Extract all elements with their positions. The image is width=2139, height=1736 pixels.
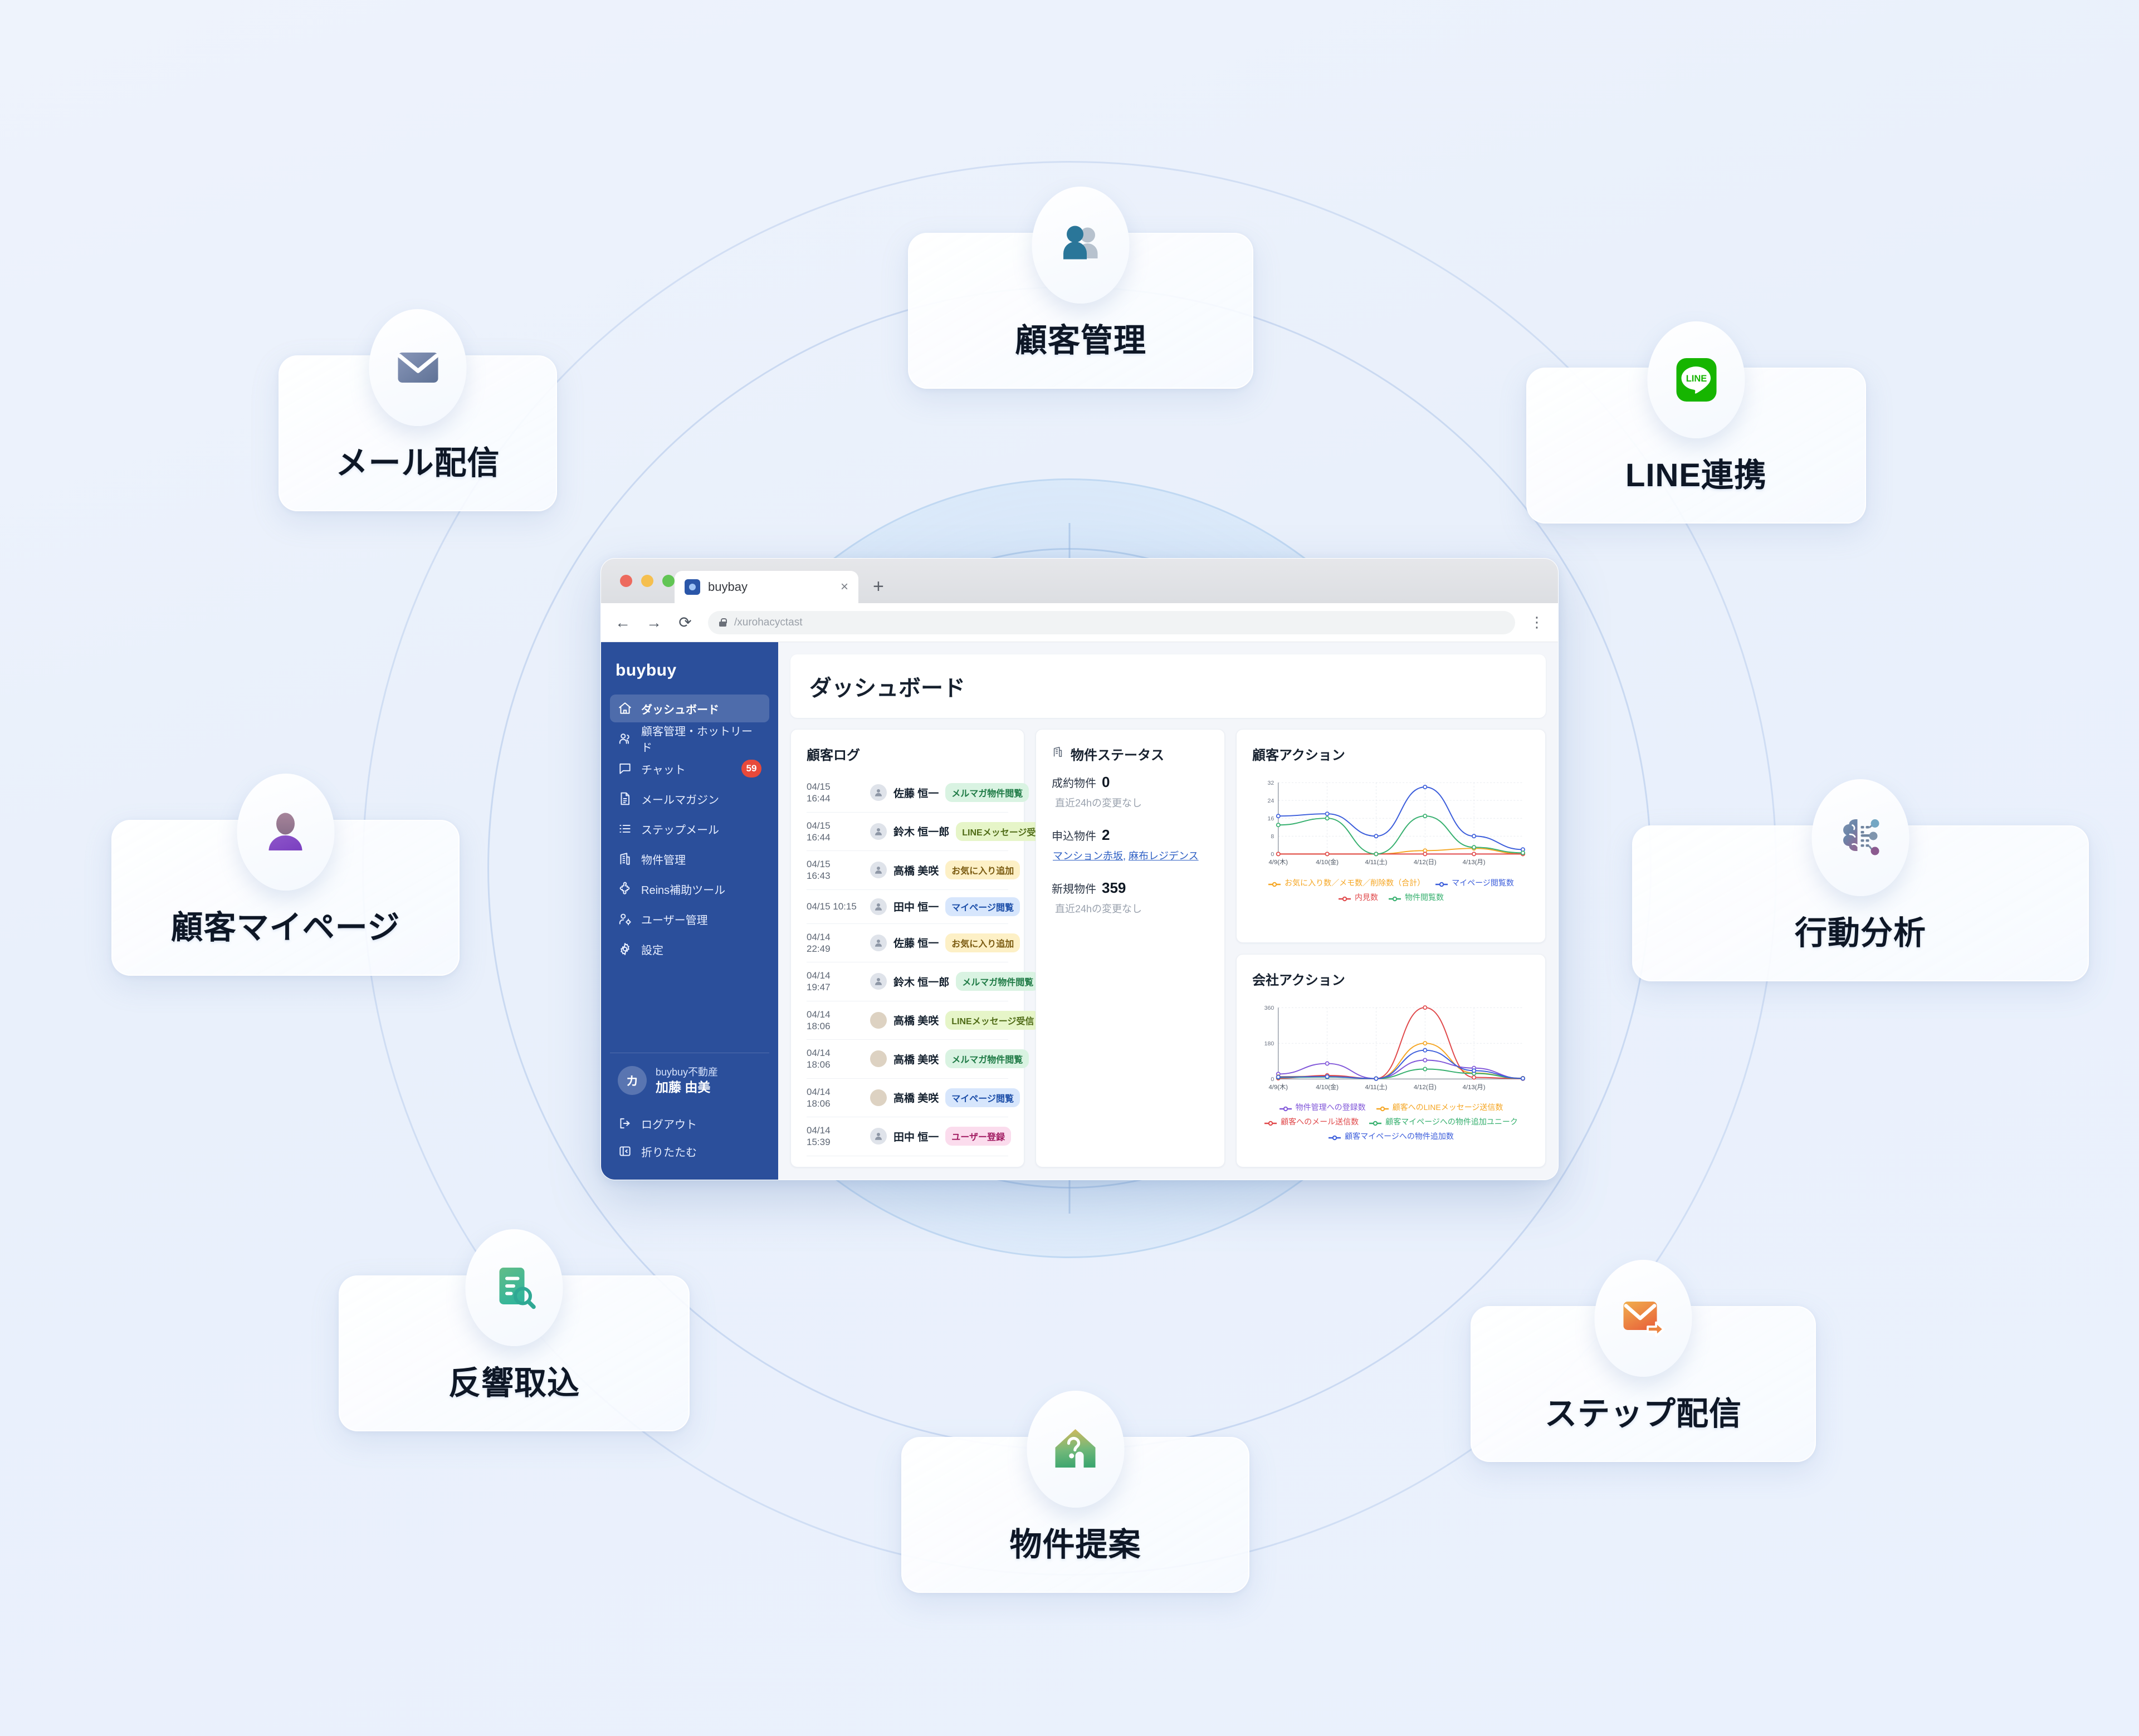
log-row[interactable]: 04/1516:44鈴木 恒一郎LINEメッセージ受信: [807, 813, 1008, 852]
log-row[interactable]: 04/15 10:15田中 恒一マイページ閲覧: [807, 890, 1008, 924]
property-status-item: 成約物件0直近24hの変更なし: [1052, 774, 1209, 810]
legend-label: 顧客へのメール送信数: [1281, 1116, 1359, 1127]
close-window-button[interactable]: [620, 575, 632, 587]
legend-marker-icon: [1264, 1119, 1277, 1124]
log-event-chip: マイページ閲覧: [945, 1088, 1020, 1107]
browser-window: buybay × + ← → ⟳ /xurohacyctast ⋮ buybuy…: [600, 558, 1559, 1180]
log-event-chip: メルマガ物件閲覧: [945, 1049, 1029, 1068]
log-timestamp: 04/1415:39: [807, 1124, 863, 1148]
feature-card-label: 反響取込: [448, 1357, 580, 1404]
maximize-window-button[interactable]: [662, 575, 675, 587]
feature-card-label: LINE連携: [1625, 449, 1767, 496]
sidebar-item-label: 設定: [641, 941, 663, 957]
property-status-line: 申込物件2: [1052, 827, 1209, 844]
sidebar-item-newsletter[interactable]: メールマガジン: [610, 785, 769, 813]
log-row[interactable]: 04/1415:39田中 恒一ユーザー登録: [807, 1117, 1008, 1156]
legend-marker-icon: [1268, 880, 1281, 886]
legend-entry[interactable]: 顧客マイページへの物件追加数: [1328, 1131, 1454, 1142]
feature-card-label: メール配信: [335, 437, 500, 483]
charts-column: 顧客アクション 081624324/9(木)4/10(金)4/11(土)4/12…: [1236, 729, 1546, 1167]
avatar: [870, 784, 887, 801]
property-status-sub: 直近24hの変更なし: [1052, 795, 1209, 810]
sidebar-item-label: Reins補助ツール: [641, 881, 725, 897]
log-event-chip: お気に入り追加: [945, 933, 1020, 952]
chat-unread-badge: 59: [741, 760, 761, 777]
document-search-icon: [466, 1229, 563, 1346]
sidebar-nav: ダッシュボード 顧客管理・ホットリード チャット 59 メールマガジン: [601, 695, 778, 963]
svg-text:360: 360: [1264, 1004, 1274, 1011]
legend-label: 顧客マイページへの物件追加ユニーク: [1385, 1116, 1518, 1127]
company-action-chart: 01803604/9(木)4/10(金)4/11(土)4/12(日)4/13(月…: [1252, 1001, 1530, 1098]
log-event-chip: お気に入り追加: [945, 860, 1020, 879]
close-icon[interactable]: ×: [841, 579, 848, 595]
feature-card-inquiry[interactable]: 反響取込: [339, 1275, 690, 1431]
log-timestamp: 04/1418:06: [807, 1086, 863, 1110]
log-timestamp: 04/1516:44: [807, 781, 863, 805]
avatar: カ: [618, 1066, 647, 1095]
document-icon: [618, 791, 632, 806]
property-status-links: マンション赤坂, 麻布レジデンス: [1052, 848, 1209, 863]
sidebar-item-dashboard[interactable]: ダッシュボード: [610, 695, 769, 722]
line-icon: LINE: [1648, 321, 1745, 438]
log-customer-name: 田中 恒一: [893, 899, 939, 914]
house-question-icon: [1027, 1391, 1124, 1508]
svg-text:0: 0: [1271, 851, 1274, 858]
address-bar-url: /xurohacyctast: [734, 617, 803, 629]
legend-marker-icon: [1369, 1119, 1382, 1124]
sidebar-item-label: メールマガジン: [641, 791, 719, 807]
home-icon: [618, 701, 632, 716]
avatar: [870, 1089, 887, 1106]
property-status-title-text: 物件ステータス: [1071, 744, 1164, 764]
log-customer-name: 佐藤 恒一: [893, 935, 939, 950]
sidebar-item-label: ダッシュボード: [641, 701, 719, 717]
feature-card-step[interactable]: ステップ配信: [1471, 1306, 1816, 1462]
address-bar[interactable]: /xurohacyctast: [708, 611, 1515, 634]
envelope-icon: [369, 309, 467, 426]
legend-label: 顧客マイページへの物件追加数: [1345, 1131, 1454, 1142]
svg-text:180: 180: [1264, 1040, 1274, 1047]
log-customer-name: 鈴木 恒一郎: [893, 974, 949, 989]
log-row[interactable]: 04/1418:06高橋 美咲メルマガ物件閲覧: [807, 1040, 1008, 1079]
browser-toolbar: ← → ⟳ /xurohacyctast ⋮: [601, 603, 1558, 642]
svg-text:4/13(月): 4/13(月): [1463, 859, 1486, 865]
sidebar-profile[interactable]: カ buybuy不動産 加藤 由美: [610, 1065, 769, 1109]
list-icon: [618, 821, 632, 836]
legend-marker-icon: [1376, 1104, 1389, 1110]
sidebar-item-collapse[interactable]: 折りたたむ: [610, 1137, 769, 1165]
log-event-chip: メルマガ物件閲覧: [956, 972, 1039, 991]
feature-card-line[interactable]: LINE LINE連携: [1526, 368, 1866, 524]
log-timestamp: 04/1419:47: [807, 970, 863, 994]
sidebar-brand: buybuy: [601, 656, 778, 695]
svg-text:16: 16: [1268, 815, 1274, 822]
property-link[interactable]: 麻布レジデンス: [1129, 850, 1199, 862]
gear-icon: [618, 942, 632, 956]
svg-text:4/10(金): 4/10(金): [1316, 858, 1339, 865]
legend-label: お気に入り数／メモ数／削除数（合計）: [1285, 877, 1425, 888]
legend-marker-icon: [1328, 1133, 1341, 1139]
svg-text:4/12(日): 4/12(日): [1414, 1084, 1437, 1090]
building-icon: [1052, 746, 1064, 762]
customer-action-chart: 081624324/9(木)4/10(金)4/11(土)4/12(日)4/13(…: [1252, 776, 1530, 873]
log-row[interactable]: 04/1422:49佐藤 恒一お気に入り追加: [807, 924, 1008, 963]
company-action-chart-title: 会社アクション: [1252, 969, 1530, 989]
legend-entry[interactable]: 顧客マイページへの物件追加ユニーク: [1369, 1116, 1518, 1127]
browser-tab[interactable]: buybay ×: [675, 571, 858, 603]
log-row[interactable]: 04/1419:47鈴木 恒一郎メルマガ物件閲覧: [807, 962, 1008, 1001]
feature-card-customer[interactable]: 顧客管理: [908, 233, 1253, 389]
log-customer-name: 鈴木 恒一郎: [893, 824, 949, 839]
reload-icon[interactable]: ⟳: [677, 613, 694, 632]
legend-entry[interactable]: 顧客へのLINEメッセージ送信数: [1376, 1102, 1503, 1113]
users-icon: [618, 731, 632, 746]
feature-card-behavior[interactable]: 行動分析: [1632, 825, 2089, 981]
sidebar-item-chat[interactable]: チャット 59: [610, 755, 769, 783]
avatar: [870, 1128, 887, 1145]
browser-menu-icon[interactable]: ⋮: [1530, 614, 1545, 631]
feature-card-label: 顧客管理: [1015, 314, 1146, 361]
log-event-chip: メルマガ物件閲覧: [945, 783, 1029, 802]
property-status-label: 新規物件: [1052, 883, 1096, 896]
property-status-value: 359: [1102, 879, 1126, 896]
profile-org: buybuy不動産: [656, 1065, 718, 1079]
envelope-arrow-icon: [1595, 1260, 1692, 1377]
avatar: [870, 898, 887, 915]
puzzle-icon: [618, 882, 632, 896]
customer-action-chart-title: 顧客アクション: [1252, 744, 1530, 764]
log-customer-name: 高橋 美咲: [893, 1090, 939, 1105]
property-status-label: 成約物件: [1052, 777, 1096, 790]
log-row[interactable]: 04/1418:06高橋 美咲マイページ閲覧: [807, 1079, 1008, 1118]
log-timestamp: 04/1422:49: [807, 931, 863, 955]
sidebar-item-reins[interactable]: Reins補助ツール: [610, 875, 769, 903]
chat-icon: [618, 761, 632, 776]
log-customer-name: 高橋 美咲: [893, 1013, 939, 1028]
legend-label: 顧客へのLINEメッセージ送信数: [1393, 1102, 1503, 1113]
svg-text:32: 32: [1268, 780, 1274, 786]
log-row[interactable]: 04/1516:44佐藤 恒一メルマガ物件閲覧: [807, 774, 1008, 813]
logout-icon: [618, 1116, 632, 1131]
svg-text:LINE: LINE: [1686, 374, 1707, 384]
legend-entry[interactable]: 物件閲覧数: [1388, 892, 1444, 903]
svg-text:4/9(木): 4/9(木): [1269, 1083, 1288, 1090]
sidebar-item-label: 物件管理: [641, 851, 686, 867]
svg-text:4/11(土): 4/11(土): [1365, 1083, 1387, 1090]
lock-icon: [719, 618, 726, 627]
property-status-title: 物件ステータス: [1052, 744, 1209, 764]
profile-name: 加藤 由美: [656, 1079, 718, 1096]
sidebar-item-settings[interactable]: 設定: [610, 935, 769, 963]
property-status-panel: 物件ステータス 成約物件0直近24hの変更なし申込物件2マンション赤坂, 麻布レ…: [1036, 729, 1225, 1167]
company-action-chart-panel: 会社アクション 01803604/9(木)4/10(金)4/11(土)4/12(…: [1236, 954, 1546, 1168]
feature-card-label: ステップ配信: [1545, 1387, 1742, 1434]
property-status-item: 新規物件359直近24hの変更なし: [1052, 879, 1209, 916]
feature-card-mail[interactable]: メール配信: [279, 355, 557, 511]
legend-label: 物件管理への登録数: [1296, 1102, 1366, 1113]
customer-action-chart-legend: お気に入り数／メモ数／削除数（合計）マイページ閲覧数内見数物件閲覧数: [1252, 877, 1530, 903]
property-status-value: 0: [1102, 774, 1110, 790]
collapse-icon: [618, 1144, 632, 1158]
sidebar-item-label: 顧客管理・ホットリード: [641, 722, 761, 755]
page-title: ダッシュボード: [790, 654, 1546, 718]
log-event-chip: ユーザー登録: [945, 1127, 1011, 1146]
legend-entry[interactable]: マイページ閲覧数: [1435, 877, 1514, 888]
back-icon[interactable]: ←: [614, 614, 631, 632]
sidebar-item-label: 折りたたむ: [641, 1143, 697, 1160]
svg-text:4/12(日): 4/12(日): [1414, 859, 1437, 865]
legend-label: マイページ閲覧数: [1452, 877, 1514, 888]
feature-card-label: 行動分析: [1795, 907, 1926, 953]
legend-marker-icon: [1388, 894, 1401, 900]
property-status-line: 新規物件359: [1052, 879, 1209, 897]
property-status-list: 成約物件0直近24hの変更なし申込物件2マンション赤坂, 麻布レジデンス新規物件…: [1052, 774, 1209, 916]
log-event-chip: LINEメッセージ受信: [945, 1011, 1040, 1030]
brain-network-icon: [1812, 779, 1910, 896]
divider: [610, 1053, 769, 1053]
legend-entry[interactable]: 内見数: [1338, 892, 1378, 903]
browser-tab-strip: buybay × +: [601, 559, 1558, 603]
legend-entry[interactable]: 顧客へのメール送信数: [1264, 1116, 1359, 1127]
property-status-value: 2: [1102, 827, 1110, 843]
sidebar-footer: カ buybuy不動産 加藤 由美 ログアウト 折りたたむ: [601, 1053, 778, 1180]
log-row[interactable]: 04/1418:06高橋 美咲LINEメッセージ受信: [807, 1001, 1008, 1040]
sidebar-item-label: ステップメール: [641, 821, 719, 837]
sidebar-item-label: チャット: [641, 761, 686, 777]
svg-text:4/13(月): 4/13(月): [1463, 1084, 1486, 1090]
avatar: [870, 935, 887, 951]
minimize-window-button[interactable]: [641, 575, 653, 587]
feature-card-label: 顧客マイページ: [171, 901, 401, 948]
log-customer-name: 佐藤 恒一: [893, 785, 939, 800]
company-action-chart-legend: 物件管理への登録数顧客へのLINEメッセージ送信数顧客へのメール送信数顧客マイペ…: [1252, 1102, 1530, 1142]
property-status-item: 申込物件2マンション赤坂, 麻布レジデンス: [1052, 827, 1209, 863]
user-gear-icon: [618, 912, 632, 926]
legend-marker-icon: [1435, 880, 1448, 886]
window-controls[interactable]: [620, 575, 675, 587]
sidebar-item-properties[interactable]: 物件管理: [610, 845, 769, 873]
property-link[interactable]: マンション赤坂: [1053, 850, 1123, 862]
log-timestamp: 04/1418:06: [807, 1009, 863, 1033]
legend-entry[interactable]: お気に入り数／メモ数／削除数（合計）: [1268, 877, 1425, 888]
avatar: [870, 862, 887, 878]
svg-text:24: 24: [1268, 798, 1274, 804]
customer-log-list: 04/1516:44佐藤 恒一メルマガ物件閲覧04/1516:44鈴木 恒一郎L…: [807, 774, 1008, 1156]
avatar: [870, 1050, 887, 1067]
customer-log-panel: 顧客ログ 04/1516:44佐藤 恒一メルマガ物件閲覧04/1516:44鈴木…: [790, 729, 1024, 1167]
new-tab-button[interactable]: +: [873, 576, 884, 598]
legend-label: 内見数: [1355, 892, 1378, 903]
svg-text:4/10(金): 4/10(金): [1316, 1083, 1339, 1090]
legend-entry[interactable]: 物件管理への登録数: [1279, 1102, 1366, 1113]
feature-card-mypage[interactable]: 顧客マイページ: [111, 820, 460, 976]
customer-action-chart-panel: 顧客アクション 081624324/9(木)4/10(金)4/11(土)4/12…: [1236, 729, 1546, 943]
feature-card-label: 物件提案: [1009, 1518, 1141, 1565]
svg-text:4/11(土): 4/11(土): [1365, 858, 1387, 865]
sidebar-item-stepmail[interactable]: ステップメール: [610, 815, 769, 843]
sidebar-item-label: ログアウト: [641, 1116, 697, 1132]
avatar: [870, 973, 887, 990]
people-icon: [1032, 187, 1130, 304]
sidebar: buybuy ダッシュボード 顧客管理・ホットリード チャット 59: [601, 642, 778, 1180]
log-customer-name: 高橋 美咲: [893, 863, 939, 878]
log-customer-name: 高橋 美咲: [893, 1052, 939, 1067]
svg-text:4/9(木): 4/9(木): [1269, 858, 1288, 865]
legend-marker-icon: [1338, 894, 1351, 900]
person-icon: [237, 774, 334, 891]
building-icon: [618, 852, 632, 866]
tab-title: buybay: [708, 580, 833, 594]
forward-icon[interactable]: →: [646, 614, 662, 632]
log-row[interactable]: 04/1516:43高橋 美咲お気に入り追加: [807, 851, 1008, 890]
property-status-line: 成約物件0: [1052, 774, 1209, 791]
sidebar-item-logout[interactable]: ログアウト: [610, 1109, 769, 1137]
log-timestamp: 04/1516:43: [807, 858, 863, 882]
sidebar-item-users[interactable]: ユーザー管理: [610, 905, 769, 933]
log-event-chip: マイページ閲覧: [945, 897, 1020, 916]
log-customer-name: 田中 恒一: [893, 1129, 939, 1144]
property-status-label: 申込物件: [1052, 830, 1096, 843]
favicon-icon: [685, 579, 700, 595]
svg-text:0: 0: [1271, 1076, 1274, 1083]
sidebar-item-label: ユーザー管理: [641, 911, 708, 927]
log-timestamp: 04/1418:06: [807, 1047, 863, 1071]
customer-log-title: 顧客ログ: [807, 744, 1008, 764]
sidebar-item-customers[interactable]: 顧客管理・ホットリード: [610, 725, 769, 752]
avatar: [870, 823, 887, 840]
legend-marker-icon: [1279, 1104, 1292, 1110]
legend-label: 物件閲覧数: [1405, 892, 1444, 903]
property-status-sub: 直近24hの変更なし: [1052, 901, 1209, 916]
log-timestamp: 04/1516:44: [807, 820, 863, 844]
avatar: [870, 1012, 887, 1029]
svg-text:8: 8: [1271, 833, 1274, 840]
main-content: ダッシュボード 顧客ログ 04/1516:44佐藤 恒一メルマガ物件閲覧04/1…: [778, 642, 1558, 1180]
log-timestamp: 04/15 10:15: [807, 901, 863, 912]
feature-card-proposal[interactable]: 物件提案: [901, 1437, 1249, 1593]
